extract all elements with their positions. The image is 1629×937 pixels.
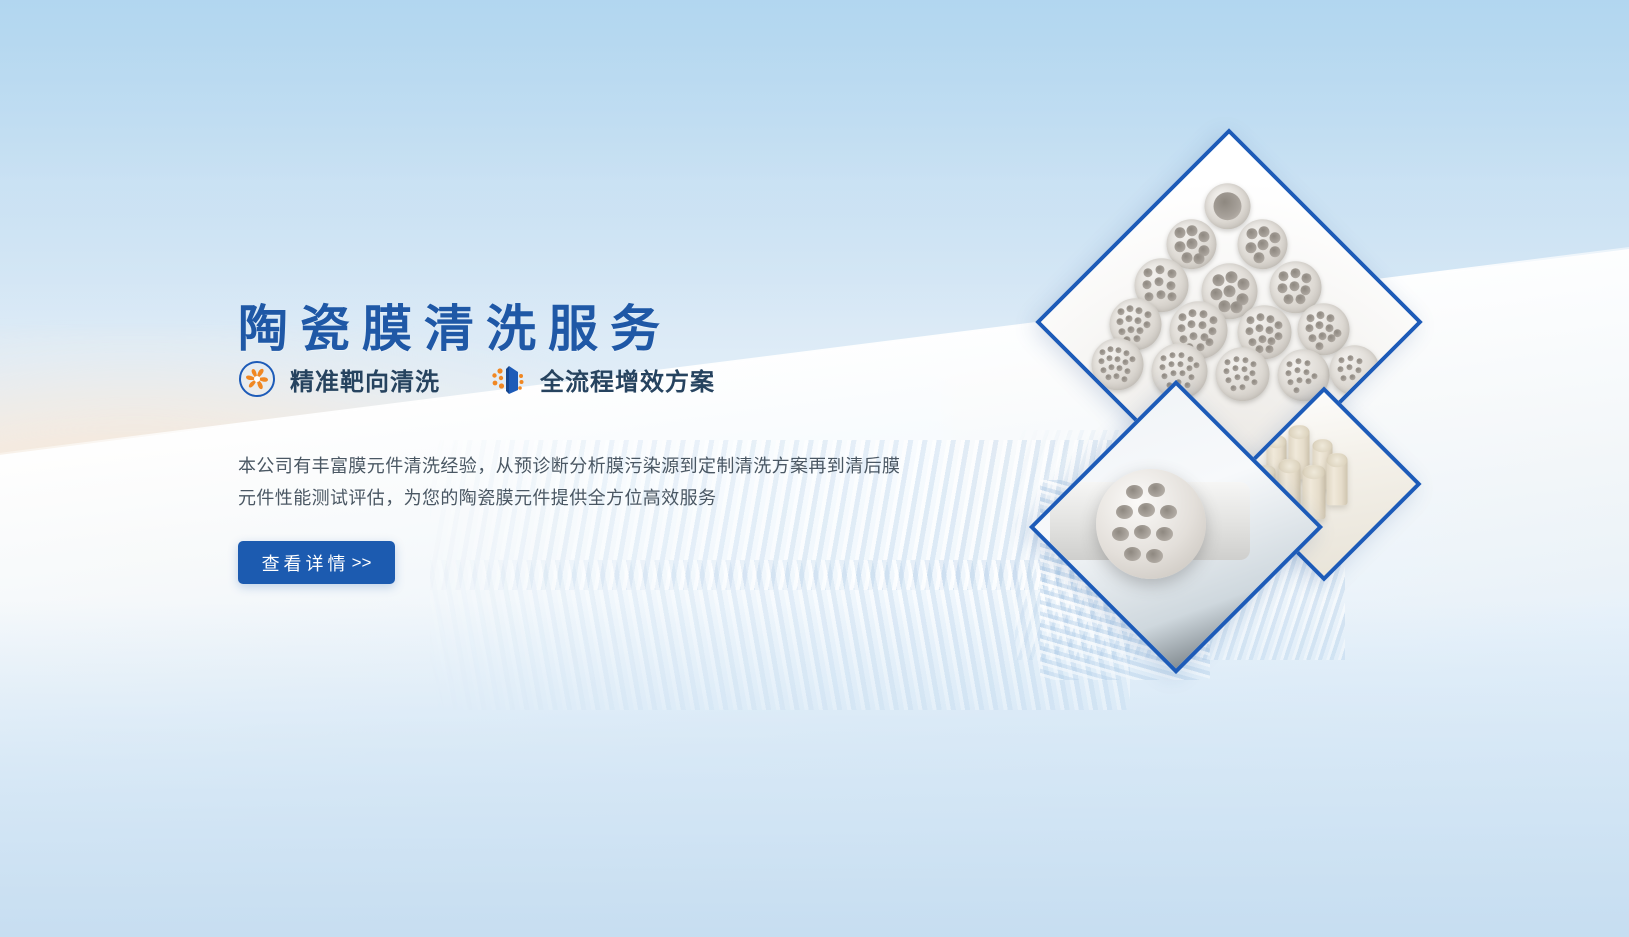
hero-banner: 陶瓷膜清洗服务 [0, 0, 1629, 937]
page-title: 陶瓷膜清洗服务 [238, 300, 672, 359]
feature-label: 全流程增效方案 [540, 362, 715, 397]
feature-item-full-process: 全流程增效方案 [488, 360, 715, 398]
floor-far-fade [0, 600, 1629, 937]
feature-item-precision-cleaning: 精准靶向清洗 [238, 360, 440, 398]
pinwheel-icon [238, 360, 276, 398]
feature-list: 精准靶向清洗 [238, 360, 715, 398]
hero-description: 本公司有丰富膜元件清洗经验，从预诊断分析膜污染源到定制清洗方案再到清后膜元件性能… [238, 450, 903, 514]
chevron-right-icon: >> [352, 553, 372, 573]
feature-label: 精准靶向清洗 [290, 362, 440, 397]
view-details-button[interactable]: 查看详情 >> [238, 541, 395, 584]
media-diamond-cluster [1040, 165, 1460, 635]
flow-flag-icon [488, 360, 526, 398]
view-details-label: 查看详情 [262, 550, 350, 576]
